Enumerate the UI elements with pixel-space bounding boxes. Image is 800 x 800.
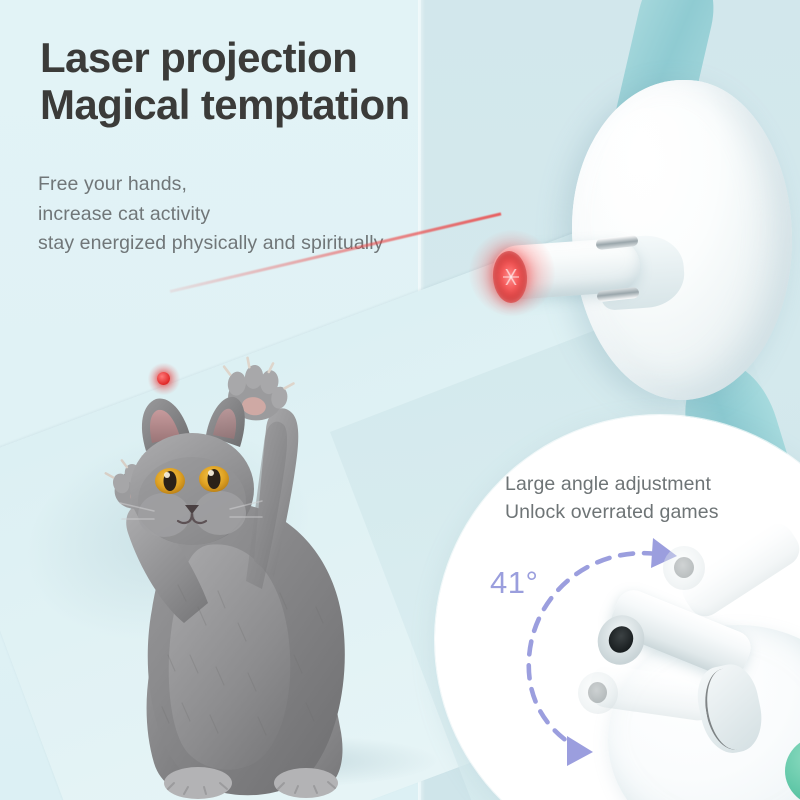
subtitle-line-3: stay energized physically and spirituall… (38, 229, 508, 259)
cat-illustration (58, 355, 403, 800)
subtitle-line-2: increase cat activity (38, 200, 508, 230)
inset-tube-hole-upper (674, 557, 694, 578)
headline-line-1: Laser projection (40, 34, 560, 81)
subtitle-line-1: Free your hands, (38, 170, 508, 200)
inset-caption-line-1: Large angle adjustment (505, 470, 800, 498)
inset-caption: Large angle adjustment Unlock overrated … (505, 470, 800, 527)
subtitle-block: Free your hands, increase cat activity s… (38, 170, 508, 259)
laser-sparkle-icon (503, 269, 519, 285)
headline-line-2: Magical temptation (40, 81, 560, 128)
page-title: Laser projection Magical temptation (40, 34, 560, 128)
product-marketing-image: Laser projection Magical temptation Free… (0, 0, 800, 800)
inset-tube-hole-lower (588, 682, 607, 703)
